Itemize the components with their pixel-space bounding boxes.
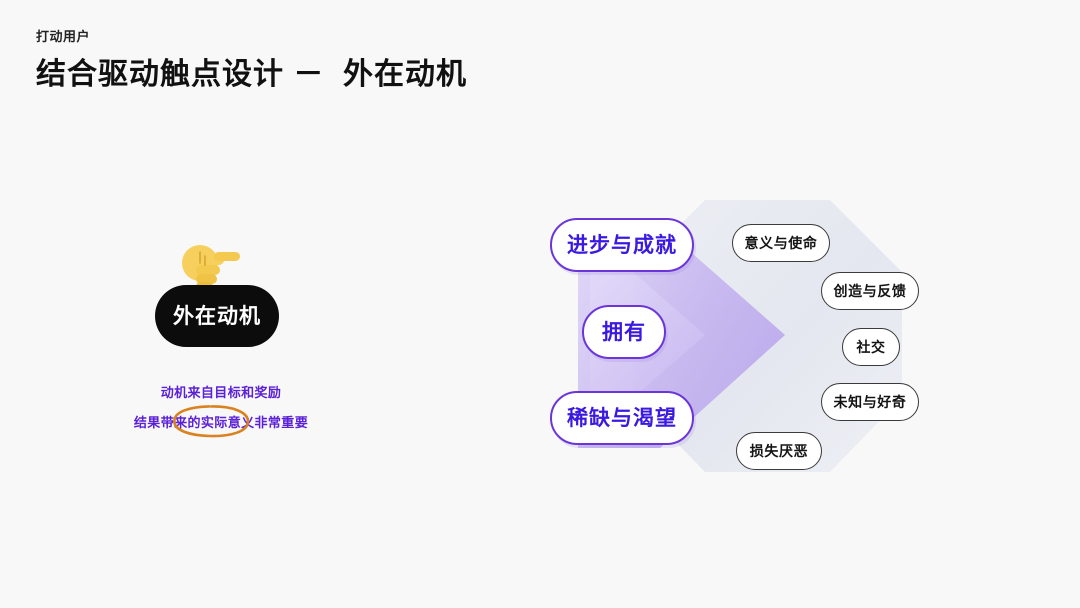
driver-node-progress-achievement[interactable]: 进步与成就: [550, 218, 694, 272]
driver-node-scarcity-desire[interactable]: 稀缺与渴望: [550, 391, 694, 445]
extrinsic-motivation-pill: 外在动机: [155, 285, 279, 347]
driver-node-loss-aversion[interactable]: 损失厌恶: [736, 432, 822, 470]
driver-node-label: 损失厌恶: [750, 444, 808, 458]
driver-node-label: 进步与成就: [567, 235, 677, 256]
driver-node-ownership[interactable]: 拥有: [582, 305, 666, 359]
page-header: 打动用户 结合驱动触点设计 － 外在动机: [36, 28, 936, 94]
driver-node-social[interactable]: 社交: [842, 328, 900, 366]
motivation-drivers-diagram: 进步与成就 拥有 稀缺与渴望 意义与使命 创造与反馈 社交 未知与好奇 损失厌恶: [530, 180, 990, 510]
driver-node-label: 稀缺与渴望: [567, 408, 677, 429]
eyebrow-text: 打动用户: [36, 28, 936, 46]
driver-node-label: 创造与反馈: [834, 284, 907, 298]
driver-node-label: 社交: [856, 340, 885, 354]
driver-node-label: 拥有: [602, 322, 646, 343]
driver-node-meaning-mission[interactable]: 意义与使命: [732, 224, 830, 262]
driver-node-unknown-curiosity[interactable]: 未知与好奇: [821, 383, 919, 421]
caption-line-1: 动机来自目标和奖励: [96, 385, 346, 401]
driver-node-creation-feedback[interactable]: 创造与反馈: [821, 272, 919, 310]
page-title: 结合驱动触点设计 － 外在动机: [36, 56, 936, 94]
driver-node-label: 意义与使命: [745, 236, 818, 250]
caption-line-2: 结果带来的实际意义非常重要: [96, 415, 346, 431]
extrinsic-motivation-cluster: 外在动机 动机来自目标和奖励 结果带来的实际意义非常重要: [96, 235, 346, 450]
driver-node-label: 未知与好奇: [834, 395, 907, 409]
extrinsic-motivation-label: 外在动机: [173, 306, 261, 327]
